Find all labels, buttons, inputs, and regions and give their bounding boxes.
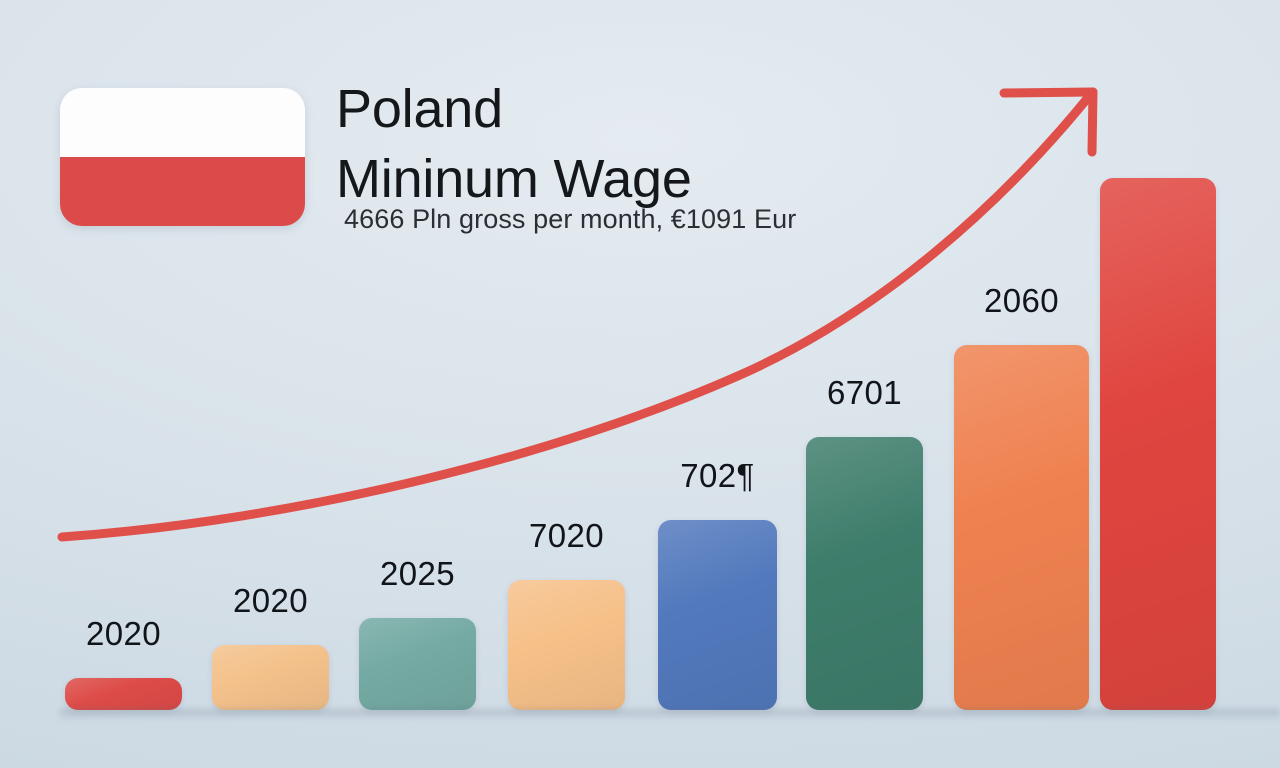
bar-4 xyxy=(508,580,625,710)
bar-6 xyxy=(806,437,923,710)
chart-baseline xyxy=(60,709,1280,721)
bar-2 xyxy=(212,645,329,710)
bar-7 xyxy=(954,345,1089,710)
bar-1 xyxy=(65,678,182,710)
bar-3 xyxy=(359,618,476,710)
bar-label-5: 702¶ xyxy=(658,457,777,495)
bar-label-2: 2020 xyxy=(212,582,329,620)
bar-8 xyxy=(1100,178,1216,710)
bar-label-6: 6701 xyxy=(806,374,923,412)
bar-label-4: 7020 xyxy=(508,517,625,555)
bar-label-7: 2060 xyxy=(954,282,1089,320)
bar-chart: 2020202020257020702¶67012060 xyxy=(0,0,1280,768)
bar-5 xyxy=(658,520,777,710)
infographic-canvas: Poland Mininum Wage 4666 Pln gross per m… xyxy=(0,0,1280,768)
bar-label-1: 2020 xyxy=(65,615,182,653)
bar-label-3: 2025 xyxy=(359,555,476,593)
